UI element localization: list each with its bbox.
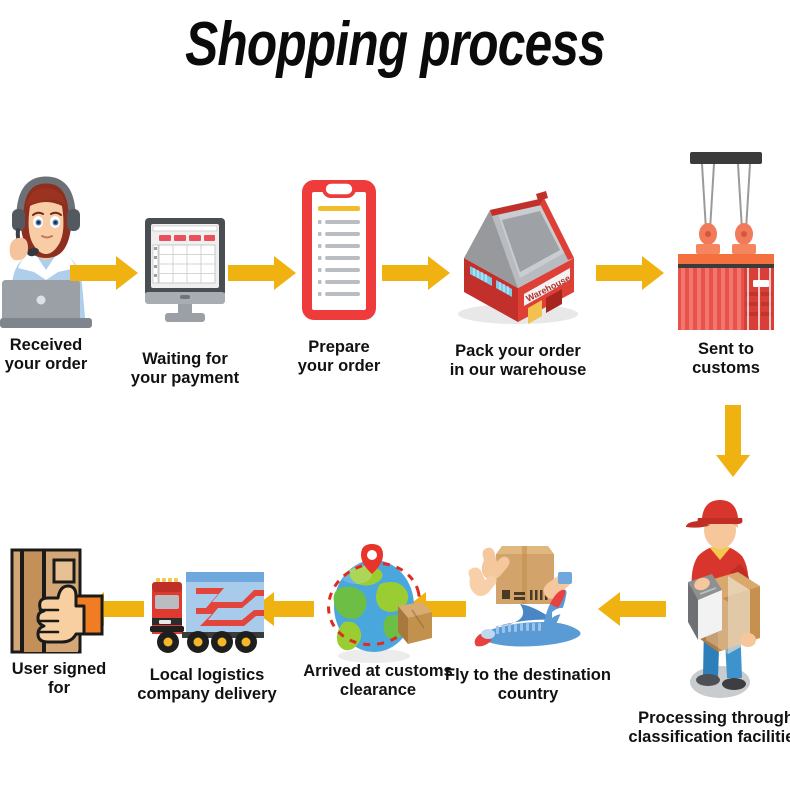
step-user-signed-for: User signed for	[10, 548, 108, 654]
step-received-your-order: Received your order	[0, 176, 92, 328]
step-waiting-for-your-payment: Waiting for your payment	[143, 218, 227, 322]
monitor-spreadsheet-icon	[143, 218, 227, 322]
step-fly-to-the-destination-country: Fly to the destination country	[462, 538, 594, 670]
airplane-parcel-icon	[462, 538, 594, 670]
step-sent-to-customs: Sent to customs	[666, 152, 786, 330]
arrow-5-6	[716, 405, 750, 477]
step-label: Processing through classification facili…	[601, 709, 790, 747]
page-title: Shopping process	[79, 14, 711, 76]
step-label: User signed for	[0, 660, 164, 698]
arrow-2-3	[228, 256, 296, 290]
step-local-logistics-company-delivery: Local logistics company delivery	[146, 562, 268, 660]
step-arrived-at-customs-clearance: Arrived at customs clearance	[316, 540, 440, 662]
arrow-6-7	[598, 592, 666, 626]
step-prepare-your-order: Prepare your order	[300, 178, 378, 322]
hand-door-signature-icon	[10, 548, 108, 654]
arrow-1-2	[70, 256, 138, 290]
arrow-4-5	[596, 256, 664, 290]
warehouse-building-icon: Warehouse	[450, 186, 586, 326]
shopping-process-infographic: Shopping process	[0, 0, 790, 790]
arrow-3-4	[382, 256, 450, 290]
globe-parcel-route-icon	[316, 540, 436, 662]
customer-service-agent-icon	[0, 176, 92, 328]
step-label: Sent to customs	[621, 340, 790, 378]
step-pack-your-order-in-our-warehouse: Warehouse Pack your order in our warehou…	[450, 186, 586, 326]
clipboard-checklist-icon	[300, 178, 378, 322]
step-processing-through-classification-facilities: Processing through classification facili…	[652, 494, 780, 702]
delivery-truck-icon	[146, 562, 262, 660]
shipping-container-crane-icon	[666, 152, 774, 330]
step-label: Pack your order in our warehouse	[413, 342, 623, 380]
delivery-courier-icon	[652, 494, 770, 702]
